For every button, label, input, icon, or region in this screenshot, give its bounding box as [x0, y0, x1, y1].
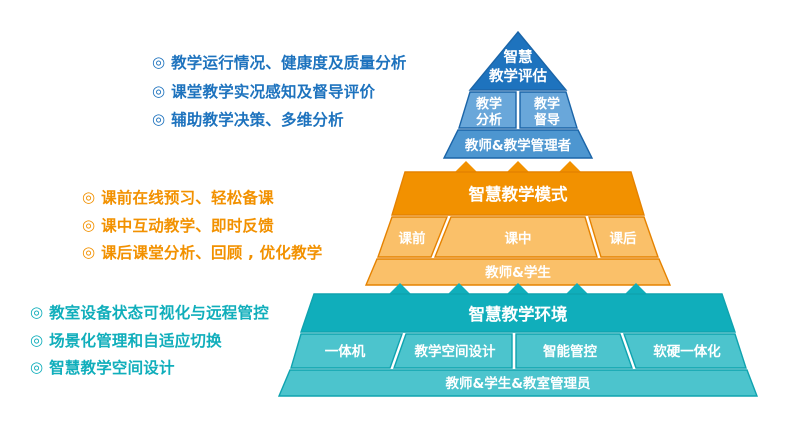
diagram-canvas: ◎ 教学运行情况、健康度及质量分析 ◎ 课堂教学实况感知及督导评价 ◎ 辅助教学…	[0, 0, 800, 426]
tier-evaluation-title-line1: 智慧	[504, 48, 533, 66]
tier-mode-subcell-during-label: 课中	[505, 230, 532, 247]
tier-environment-subcell-smart-control-label: 智能管控	[543, 343, 597, 360]
tier-evaluation-subcell-analysis-line2: 分析	[476, 112, 502, 128]
tier-evaluation-actors-label: 教师&教学管理者	[465, 137, 572, 154]
tier-environment-subcell-hw-sw-label: 软硬一体化	[653, 343, 721, 360]
tier-environment-subcell-aio-label: 一体机	[325, 343, 366, 360]
tier-environment-subcell-space-design-label: 教学空间设计	[415, 343, 496, 360]
tier-evaluation-title-line2: 教学评估	[488, 67, 547, 85]
pyramid-tier-evaluation[interactable]: 智慧 教学评估 教学 分析 教学 督导 教师&教学管理者	[444, 32, 592, 158]
tier-mode-subcell-before-label: 课前	[399, 230, 426, 247]
tier-evaluation-subcell-analysis-line1: 教学	[475, 96, 502, 112]
tier-mode-subcell-after-label: 课后	[610, 230, 638, 247]
pyramid-tier-mode[interactable]: 智慧教学模式 课前 课中 课后 教师&学生	[366, 172, 670, 285]
tier-mode-actors-label: 教师&学生	[485, 264, 551, 281]
tier-evaluation-subcell-supervision-line2: 督导	[534, 112, 560, 128]
tier-environment-title: 智慧教学环境	[469, 304, 569, 324]
tier-mode-title: 智慧教学模式	[469, 184, 569, 204]
tier-environment-actors-label: 教师&学生&教室管理员	[445, 375, 590, 392]
pyramid-diagram: 智慧 教学评估 教学 分析 教学 督导 教师&教学管理者 智慧教学模式 课前	[0, 0, 800, 426]
tier-evaluation-subcell-supervision-line1: 教学	[533, 96, 560, 112]
pyramid-tier-environment[interactable]: 智慧教学环境 一体机 教学空间设计 智能管控 软硬一体化 教师&学生&教室管理员	[279, 294, 757, 396]
